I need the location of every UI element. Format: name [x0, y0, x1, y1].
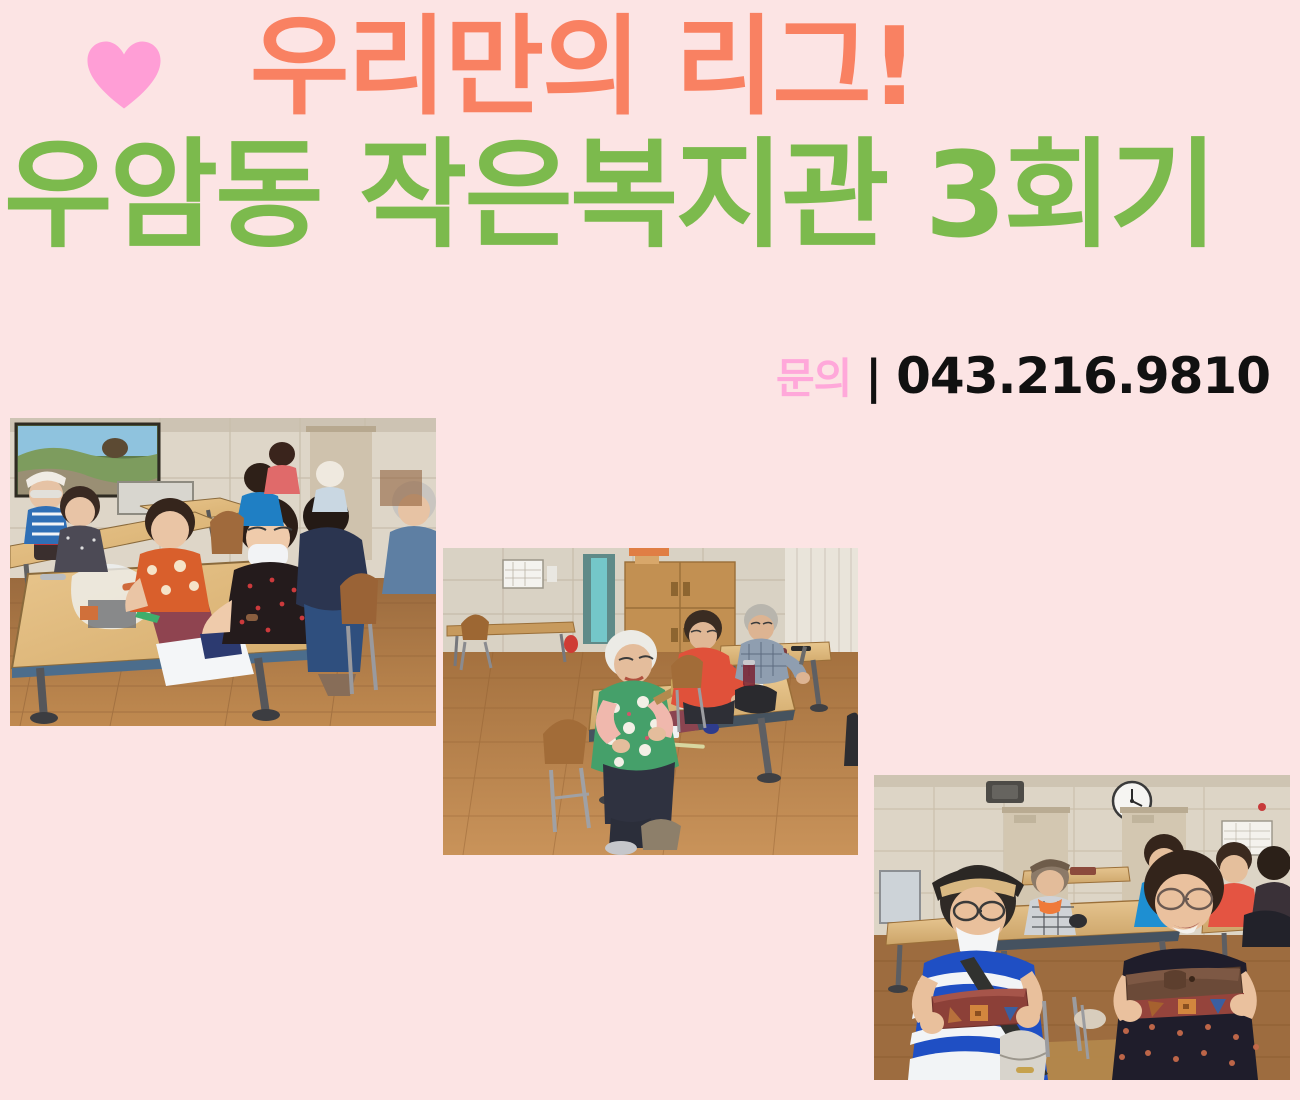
contact-phone-number[interactable]: 043.216.9810 [896, 347, 1270, 405]
contact-row: 문의 | 043.216.9810 [776, 345, 1270, 406]
photo-workshop-classroom-tables [10, 418, 436, 726]
heart-icon [85, 40, 163, 110]
photo-participant-hammering-leather [443, 548, 858, 855]
poster-title-line-1: 우리만의 리그! [250, 14, 917, 122]
poster-title-line-2: 우암동 작은복지관 3회기 [4, 136, 1215, 254]
contact-label: 문의 [776, 345, 851, 406]
footer-bar: 사 회 복 지 법 인 연 꽃 마 을 청주내덕노인복지관 청주시 CHEONG… [0, 1018, 1300, 1100]
poster-canvas: 우리만의 리그! 우암동 작은복지관 3회기 문의 | 043.216.9810 [0, 0, 1300, 1100]
contact-separator: | [865, 350, 882, 404]
